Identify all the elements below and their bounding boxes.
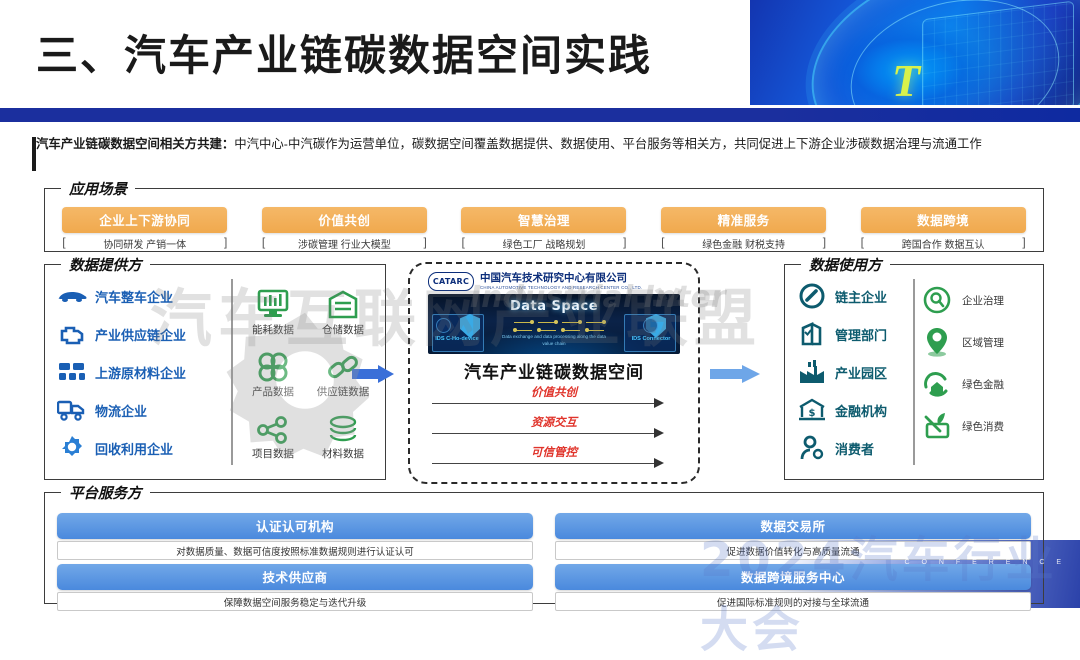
- flow-arrow-icon: [654, 458, 664, 468]
- scenario-title: 价值共创: [262, 207, 427, 233]
- search-circle-icon: [917, 282, 957, 318]
- flow-label: 资源交互: [432, 414, 676, 430]
- header-banner: T 三、汽车产业链碳数据空间实践: [0, 0, 1080, 122]
- provider-role-label: 汽车整车企业: [95, 287, 173, 306]
- purpose-item[interactable]: 绿色金融: [917, 363, 1035, 405]
- catarc-name-cn: 中国汽车技术研究中心有限公司: [480, 273, 642, 285]
- provider-role-label: 产业供应链企业: [95, 325, 186, 344]
- user-role-item[interactable]: 链主企业: [795, 277, 915, 315]
- platform-item[interactable]: 数据跨境服务中心 促进国际标准规则的对接与全球流通: [555, 564, 1031, 611]
- description-lead: 汽车产业链碳数据空间相关方共建：: [36, 137, 234, 151]
- flow-row: 资源交互: [432, 416, 676, 446]
- badge-check-icon: [795, 281, 829, 311]
- platform-title: 认证认可机构: [57, 513, 533, 539]
- user-role-label: 链主企业: [835, 287, 887, 306]
- user-role-item[interactable]: 消费者: [795, 429, 915, 467]
- clipboard-chart-icon: [795, 319, 829, 349]
- platform-item[interactable]: 数据交易所 促进数据价值转化与高质量流通: [555, 513, 1031, 560]
- recycle-home-icon: [917, 366, 957, 402]
- purpose-label: 绿色金融: [962, 377, 1004, 392]
- conference-logo: C O N F E R E N C E: [904, 556, 1066, 566]
- user-purpose-list: 企业治理 区域管理 绿色金融 绿色消费: [917, 279, 1035, 447]
- purpose-item[interactable]: 绿色消费: [917, 405, 1035, 447]
- description-text: 汽车产业链碳数据空间相关方共建：中汽中心-中汽碳作为运营单位，碳数据空间覆盖数据…: [36, 136, 1044, 154]
- green-card-icon: [917, 408, 957, 444]
- app-badge-right: [643, 318, 658, 333]
- flow-line: [432, 403, 658, 404]
- user-role-label: 金融机构: [835, 401, 887, 420]
- user-gear-icon: [795, 433, 829, 463]
- gear-recycle-icon: [55, 433, 89, 463]
- scenario-title: 精准服务: [661, 207, 826, 233]
- platform-title: 技术供应商: [57, 564, 533, 590]
- platform-subtitle: 对数据质量、数据可信度按照标准数据规则进行认证认可: [57, 541, 533, 560]
- header-rule-blue: [0, 108, 1080, 122]
- purpose-item[interactable]: 企业治理: [917, 279, 1035, 321]
- platform-item[interactable]: 技术供应商 保障数据空间服务稳定与迭代升级: [57, 564, 533, 611]
- platform-services-panel: 平台服务方 认证认可机构 对数据质量、数据可信度按照标准数据规则进行认证认可 数…: [44, 492, 1044, 604]
- scenario-subtitle: 绿色金融 财税支持: [661, 235, 826, 252]
- provider-role-list: 汽车整车企业 产业供应链企业 上游原材料企业 物流企业 回收利用企业: [55, 277, 219, 467]
- scenario-item[interactable]: 价值共创 涉碳管理 行业大模型: [262, 207, 427, 252]
- truck-icon: [55, 395, 89, 425]
- data-space-caption: Data exchange and data processing along …: [498, 334, 610, 348]
- scenario-subtitle: 绿色工厂 战略规划: [461, 235, 626, 252]
- user-role-item[interactable]: 管理部门: [795, 315, 915, 353]
- platform-title: 数据交易所: [555, 513, 1031, 539]
- flow-line: [432, 463, 658, 464]
- scenario-title: 数据跨境: [861, 207, 1026, 233]
- platform-title: 数据跨境服务中心: [555, 564, 1031, 590]
- platform-item[interactable]: 认证认可机构 对数据质量、数据可信度按照标准数据规则进行认证认可: [57, 513, 533, 560]
- scenarios-legend: 应用场景: [61, 178, 135, 199]
- user-role-label: 产业园区: [835, 363, 887, 382]
- scenario-list: 企业上下游协同 协同研发 产销一体 价值共创 涉碳管理 行业大模型 智慧治理 绿…: [45, 207, 1043, 251]
- arrow-head: [742, 365, 760, 383]
- catarc-name-en: CHINA AUTOMOTIVE TECHNOLOGY AND RESEARCH…: [480, 285, 642, 290]
- flow-arrow-right-icon: [710, 365, 760, 383]
- flow-label: 可信管控: [432, 444, 676, 460]
- platform-subtitle: 促进国际标准规则的对接与全球流通: [555, 592, 1031, 611]
- data-space-title-cn: 汽车产业链碳数据空间: [410, 358, 698, 383]
- page-title: 三、汽车产业链碳数据空间实践: [36, 22, 652, 83]
- data-space-banner-title: Data Space: [428, 299, 680, 314]
- arrow-shaft: [710, 369, 744, 379]
- scenario-title: 智慧治理: [461, 207, 626, 233]
- provider-role-label: 物流企业: [95, 401, 147, 420]
- flow-row: 可信管控: [432, 446, 676, 476]
- provider-role-item[interactable]: 汽车整车企业: [55, 277, 219, 315]
- platform-item-grid: 认证认可机构 对数据质量、数据可信度按照标准数据规则进行认证认可 数据交易所 促…: [57, 513, 1031, 611]
- scenario-item[interactable]: 企业上下游协同 协同研发 产销一体: [62, 207, 227, 252]
- brand-logo-letter: T: [892, 54, 920, 107]
- ids-connector-right-label: IDS Connector: [626, 336, 676, 342]
- scenario-item[interactable]: 精准服务 绿色金融 财税支持: [661, 207, 826, 252]
- platform-subtitle: 保障数据空间服务稳定与迭代升级: [57, 592, 533, 611]
- car-icon: [55, 281, 89, 311]
- user-role-label: 管理部门: [835, 325, 887, 344]
- application-scenarios-panel: 应用场景 企业上下游协同 协同研发 产销一体 价值共创 涉碳管理 行业大模型 智…: [44, 188, 1044, 252]
- provider-role-item[interactable]: 产业供应链企业: [55, 315, 219, 353]
- gear-watermark-icon: [225, 300, 385, 460]
- flow-label: 价值共创: [432, 384, 676, 400]
- svg-text:$: $: [809, 408, 816, 419]
- flow-line: [432, 433, 658, 434]
- purpose-label: 区域管理: [962, 335, 1004, 350]
- dial-graphic: [922, 0, 1074, 122]
- user-role-item[interactable]: $ 金融机构: [795, 391, 915, 429]
- catarc-mark: CATARC: [428, 272, 474, 291]
- data-space-illustration: Data Space IDS C-Ho-device IDS Connector…: [428, 294, 680, 354]
- flow-row: 价值共创: [432, 386, 676, 416]
- provider-role-item[interactable]: 回收利用企业: [55, 429, 219, 467]
- users-divider: [913, 279, 915, 465]
- description-body: 中汽中心-中汽碳作为运营单位，碳数据空间覆盖数据提供、数据使用、平台服务等相关方…: [234, 137, 982, 151]
- providers-legend: 数据提供方: [61, 254, 150, 275]
- engine-icon: [55, 319, 89, 349]
- platform-legend: 平台服务方: [61, 482, 150, 503]
- users-legend: 数据使用方: [801, 254, 890, 275]
- provider-role-item[interactable]: 物流企业: [55, 391, 219, 429]
- flow-arrow-icon: [654, 398, 664, 408]
- provider-role-label: 回收利用企业: [95, 439, 173, 458]
- bricks-icon: [55, 357, 89, 387]
- provider-role-item[interactable]: 上游原材料企业: [55, 353, 219, 391]
- catarc-logo: CATARC 中国汽车技术研究中心有限公司 CHINA AUTOMOTIVE T…: [428, 272, 680, 291]
- app-badge-left: [436, 318, 451, 333]
- scenario-subtitle: 跨国合作 数据互认: [861, 235, 1026, 252]
- user-role-label: 消费者: [835, 439, 874, 458]
- header-decorative-graphic: T: [750, 0, 1080, 122]
- ids-connector-left-label: IDS C-Ho-device: [432, 336, 482, 342]
- flow-arrow-icon: [654, 428, 664, 438]
- provider-role-label: 上游原材料企业: [95, 363, 186, 382]
- factory-icon: [795, 357, 829, 387]
- map-pin-icon: [917, 324, 957, 360]
- scenario-title: 企业上下游协同: [62, 207, 227, 233]
- data-users-panel: 数据使用方 链主企业 管理部门 产业园区 $ 金融机构: [784, 264, 1044, 480]
- data-space-center-panel: CATARC 中国汽车技术研究中心有限公司 CHINA AUTOMOTIVE T…: [408, 262, 700, 484]
- conference-logo-en: C O N F E R E N C E: [904, 559, 1066, 566]
- scenario-item[interactable]: 数据跨境 跨国合作 数据互认: [861, 207, 1026, 252]
- user-role-item[interactable]: 产业园区: [795, 353, 915, 391]
- user-role-list: 链主企业 管理部门 产业园区 $ 金融机构 消费者: [795, 277, 915, 467]
- purpose-label: 企业治理: [962, 293, 1004, 308]
- scenario-subtitle: 涉碳管理 行业大模型: [262, 235, 427, 252]
- bank-dollar-icon: $: [795, 395, 829, 425]
- scenario-subtitle: 协同研发 产销一体: [62, 235, 227, 252]
- scenario-item[interactable]: 智慧治理 绿色工厂 战略规划: [461, 207, 626, 252]
- purpose-label: 绿色消费: [962, 419, 1004, 434]
- purpose-item[interactable]: 区域管理: [917, 321, 1035, 363]
